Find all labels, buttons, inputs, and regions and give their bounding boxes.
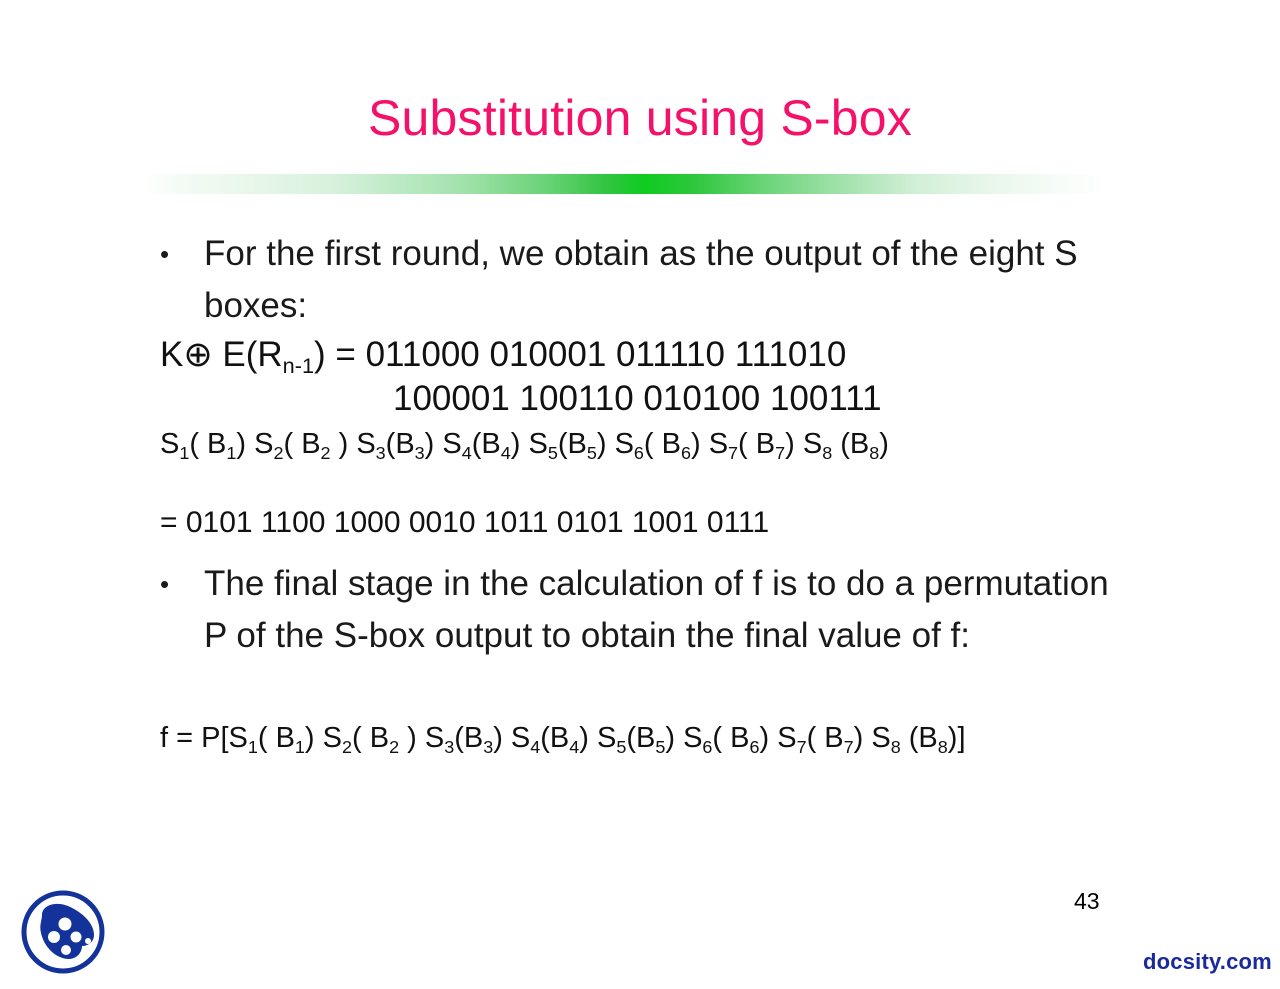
sbox-index: 7 [797, 737, 807, 757]
equation-xor-line1: K⊕ E(Rn-1) = 011000 010001 011110 111010 [160, 330, 846, 380]
equation-lhs-suffix: ) = [314, 335, 366, 374]
sbox-open-paren: (B [901, 722, 938, 754]
page-number: 43 [1074, 888, 1100, 915]
sbox-block-index: 7 [844, 737, 854, 757]
sbox-close-paren: ) [597, 428, 607, 460]
sbox-symbol: S [160, 428, 179, 460]
sbox-index: 1 [248, 737, 258, 757]
sbox-term-4: S4(B4) [442, 428, 520, 460]
sbox-block-index: 3 [415, 443, 425, 463]
sbox-symbol: S [323, 722, 342, 754]
sbox-close-paren: ) [399, 722, 417, 754]
sbox-symbol: S [254, 428, 273, 460]
sbox-block-index: 5 [587, 443, 597, 463]
sbox-close-paren: ) [854, 722, 864, 754]
sbox-close-paren: ) [948, 722, 958, 754]
sbox-symbol: S [615, 428, 634, 460]
sbox-index: 1 [179, 443, 189, 463]
sbox-close-paren: ) [785, 428, 795, 460]
sbox-index: 8 [822, 443, 832, 463]
sbox-open-paren: ( B [644, 428, 681, 460]
docsity-brand-text: docsity.com [1143, 949, 1272, 975]
sbox-close-paren: ) [493, 722, 503, 754]
sbox-symbol: S [871, 722, 890, 754]
equation-lhs-prefix: K⊕ E(R [160, 335, 283, 374]
bullet-text-2: The final stage in the calculation of f … [204, 558, 1140, 662]
sbox-result-line: = 0101 1100 1000 0010 1011 0101 1001 011… [160, 498, 769, 548]
sbox-block-index: 1 [295, 737, 305, 757]
sbox-term-8: S8 (B8) [803, 428, 889, 460]
sbox-block-index: 6 [681, 443, 691, 463]
sbox-block-index: 2 [321, 443, 331, 463]
sbox-term-3: S3(B3) [356, 428, 434, 460]
sbox-open-paren: (B [386, 428, 415, 460]
sbox-block-index: 8 [869, 443, 879, 463]
f-line-sbox-terms: S1( B1) S2( B2 ) S3(B3) S4(B4) S5(B5) S6… [229, 722, 958, 754]
f-line-prefix: f = P[ [160, 722, 229, 754]
sbox-block-index: 6 [749, 737, 759, 757]
sbox-symbol: S [442, 428, 461, 460]
sbox-term-6: S6( B6) [683, 722, 769, 754]
docsity-logo [20, 889, 106, 975]
sbox-close-paren: ) [665, 722, 675, 754]
sbox-open-paren: (B [626, 722, 655, 754]
f-line-suffix: ] [957, 722, 965, 754]
sbox-index: 4 [530, 737, 540, 757]
sbox-symbol: S [511, 722, 530, 754]
sbox-terms: S1( B1) S2( B2 ) S3(B3) S4(B4) S5(B5) S6… [160, 428, 889, 460]
sbox-index: 3 [444, 737, 454, 757]
bullet-item-1: • For the first round, we obtain as the … [160, 228, 1140, 332]
sbox-open-paren: ( B [712, 722, 749, 754]
permutation-f-line: f = P[S1( B1) S2( B2 ) S3(B3) S4(B4) S5(… [160, 718, 966, 758]
bullet-text-1: For the first round, we obtain as the ou… [204, 228, 1140, 332]
sbox-index: 6 [702, 737, 712, 757]
sbox-block-index: 7 [775, 443, 785, 463]
sbox-term-5: S5(B5) [597, 722, 675, 754]
sbox-index: 7 [728, 443, 738, 463]
sbox-term-2: S2( B2 ) [254, 428, 348, 460]
sbox-open-paren: ( B [283, 428, 320, 460]
sbox-index: 5 [616, 737, 626, 757]
sbox-open-paren: (B [832, 428, 869, 460]
sbox-index: 8 [891, 737, 901, 757]
sbox-symbol: S [803, 428, 822, 460]
sbox-close-paren: ) [331, 428, 349, 460]
equation-xor-value-line2: 100001 100110 010100 100111 [393, 374, 882, 424]
bullet-item-2: • The final stage in the calculation of … [160, 558, 1140, 662]
sbox-open-paren: (B [454, 722, 483, 754]
sbox-block-index: 1 [226, 443, 236, 463]
sbox-index: 5 [548, 443, 558, 463]
sbox-index: 6 [634, 443, 644, 463]
sbox-symbol: S [528, 428, 547, 460]
sbox-term-7: S7( B7) [777, 722, 863, 754]
sbox-index: 3 [376, 443, 386, 463]
sbox-block-index: 4 [569, 737, 579, 757]
sbox-open-paren: ( B [258, 722, 295, 754]
sbox-term-8: S8 (B8) [871, 722, 957, 754]
sbox-open-paren: ( B [738, 428, 775, 460]
sbox-symbol: S [683, 722, 702, 754]
sbox-term-5: S5(B5) [528, 428, 606, 460]
sbox-block-index: 3 [483, 737, 493, 757]
sbox-symbol: S [356, 428, 375, 460]
sbox-index: 2 [342, 737, 352, 757]
slide: Substitution using S-box • For the first… [0, 0, 1280, 989]
sbox-open-paren: (B [472, 428, 501, 460]
sbox-term-4: S4(B4) [511, 722, 589, 754]
sbox-open-paren: ( B [807, 722, 844, 754]
sbox-block-index: 8 [938, 737, 948, 757]
sbox-close-paren: ) [759, 722, 769, 754]
sbox-close-paren: ) [579, 722, 589, 754]
sbox-index: 4 [462, 443, 472, 463]
sbox-term-7: S7( B7) [709, 428, 795, 460]
sbox-symbol: S [777, 722, 796, 754]
sbox-symbol: S [709, 428, 728, 460]
sbox-open-paren: ( B [352, 722, 389, 754]
slide-body: • For the first round, we obtain as the … [0, 0, 1280, 989]
sbox-close-paren: ) [305, 722, 315, 754]
bullet-marker-icon: • [160, 228, 194, 280]
sbox-open-paren: ( B [189, 428, 226, 460]
sbox-term-6: S6( B6) [615, 428, 701, 460]
sbox-term-1: S1( B1) [229, 722, 315, 754]
sbox-open-paren: (B [558, 428, 587, 460]
sbox-close-paren: ) [425, 428, 435, 460]
sbox-symbol: S [597, 722, 616, 754]
sbox-application-line: S1( B1) S2( B2 ) S3(B3) S4(B4) S5(B5) S6… [160, 424, 889, 464]
equation-lhs-subscript: n-1 [283, 353, 314, 378]
sbox-index: 2 [273, 443, 283, 463]
sbox-block-index: 5 [655, 737, 665, 757]
sbox-close-paren: ) [511, 428, 521, 460]
sbox-open-paren: (B [540, 722, 569, 754]
sbox-close-paren: ) [236, 428, 246, 460]
equation-xor-value-line1: 011000 010001 011110 111010 [366, 335, 847, 374]
bullet-marker-icon: • [160, 558, 194, 610]
sbox-term-2: S2( B2 ) [323, 722, 417, 754]
sbox-close-paren: ) [879, 428, 889, 460]
sbox-close-paren: ) [691, 428, 701, 460]
sbox-block-index: 2 [389, 737, 399, 757]
sbox-block-index: 4 [501, 443, 511, 463]
sbox-term-1: S1( B1) [160, 428, 246, 460]
sbox-symbol: S [425, 722, 444, 754]
sbox-term-3: S3(B3) [425, 722, 503, 754]
sbox-symbol: S [229, 722, 248, 754]
